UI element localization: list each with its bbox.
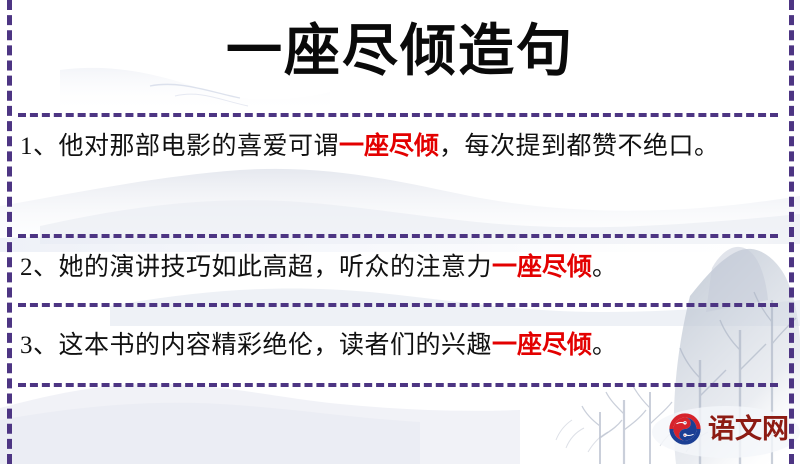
watermark-text: 语文网: [708, 414, 789, 444]
sentence-2-before: 她的演讲技巧如此高超，听众的注意力: [59, 254, 493, 281]
sentence-3-number: 3、: [20, 332, 59, 359]
sentence-1-after: ，每次提到都赞不绝口。: [439, 133, 720, 160]
frame-border-right: [789, 0, 794, 464]
sentence-1-number: 1、: [20, 133, 59, 160]
separator-2: [18, 234, 778, 238]
sentence-3-idiom: 一座尽倾: [492, 332, 592, 359]
example-sentence-3: 3、这本书的内容精彩绝伦，读者们的兴趣一座尽倾。: [20, 325, 760, 367]
site-watermark: 语文网: [668, 412, 789, 446]
separator-4: [18, 383, 778, 387]
sentence-2-after: 。: [592, 254, 618, 281]
sentence-1-idiom: 一座尽倾: [339, 133, 439, 160]
sentence-3-before: 这本书的内容精彩绝伦，读者们的兴趣: [59, 332, 493, 359]
slide-page: 一座尽倾造句 1、他对那部电影的喜爱可谓一座尽倾，每次提到都赞不绝口。 2、她的…: [0, 0, 800, 464]
yinyang-fish-icon: [668, 412, 702, 446]
frame-border-left: [7, 0, 12, 464]
separator-3: [18, 303, 778, 307]
sentence-3-after: 。: [592, 332, 618, 359]
page-title: 一座尽倾造句: [0, 14, 800, 90]
sentence-2-number: 2、: [20, 254, 59, 281]
separator-1: [18, 113, 778, 117]
example-sentence-2: 2、她的演讲技巧如此高超，听众的注意力一座尽倾。: [20, 247, 760, 289]
sentence-1-before: 他对那部电影的喜爱可谓: [59, 133, 340, 160]
sentence-2-idiom: 一座尽倾: [492, 254, 592, 281]
example-sentence-1: 1、他对那部电影的喜爱可谓一座尽倾，每次提到都赞不绝口。: [20, 126, 760, 168]
